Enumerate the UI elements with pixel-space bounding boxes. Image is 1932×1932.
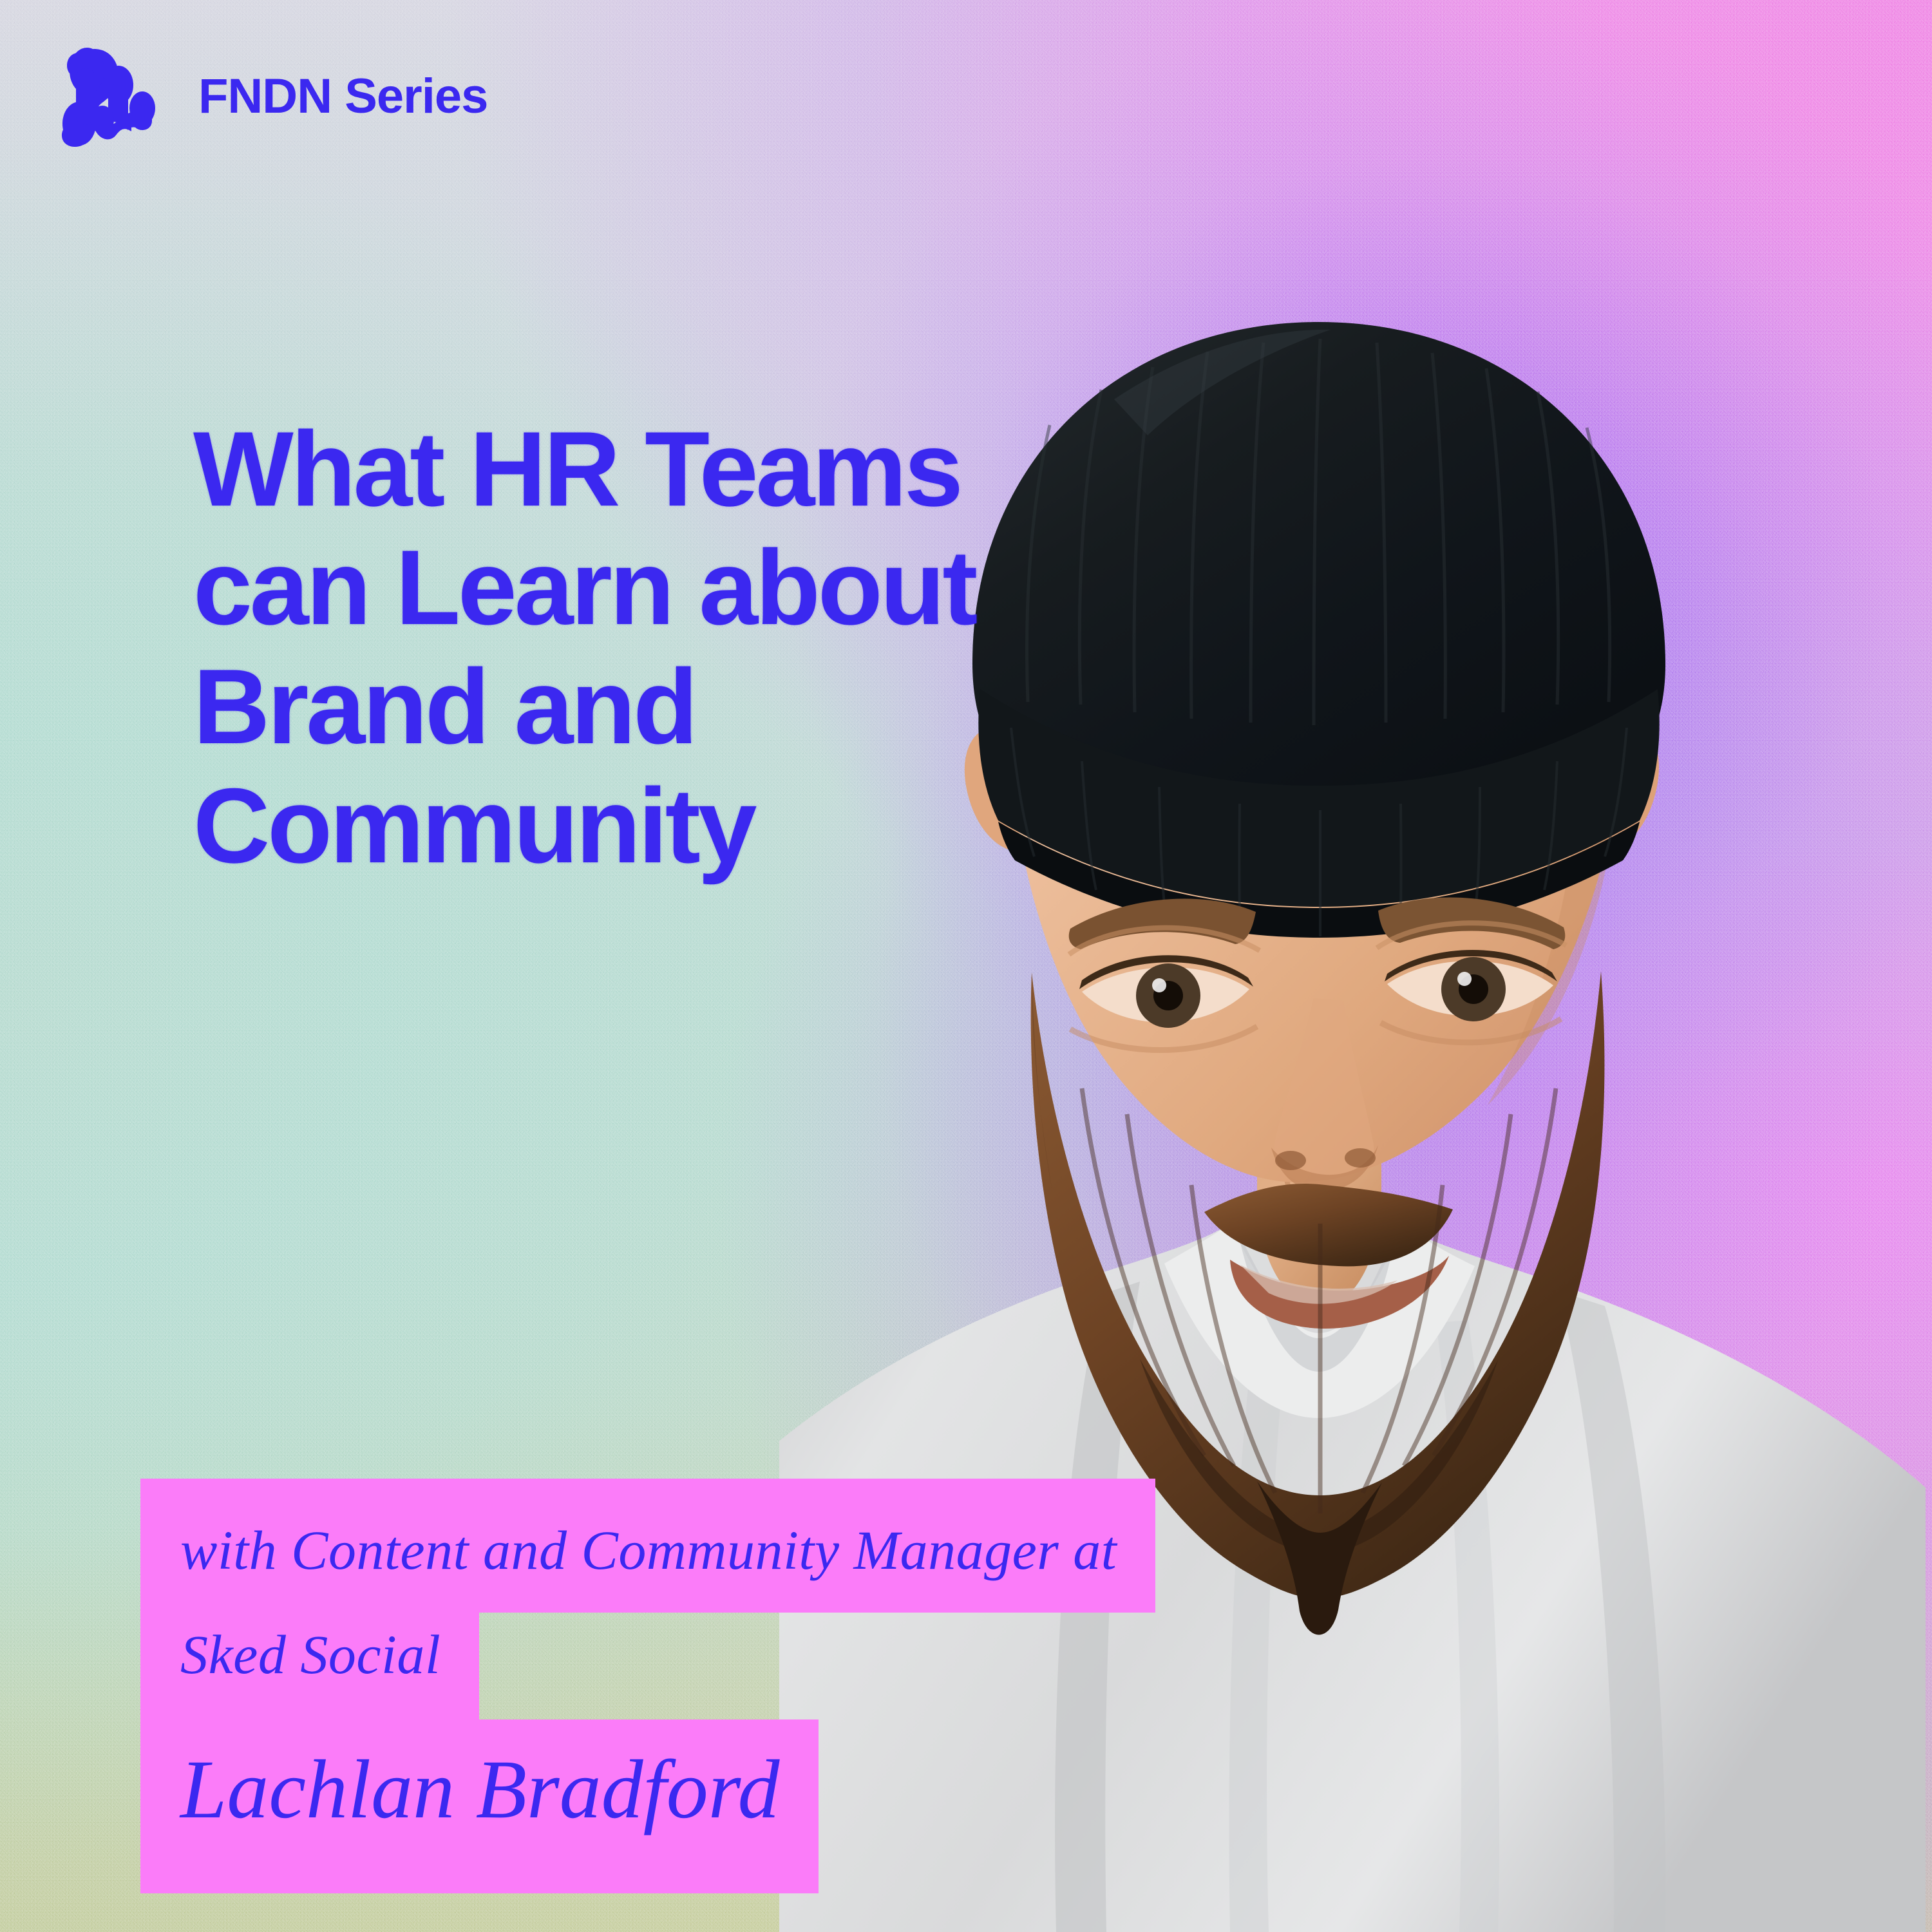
speaker-role-line: with Content and Community Manager at	[140, 1479, 1155, 1613]
headline-line-3: Brand and	[193, 647, 1301, 766]
headline-line-4: Community	[193, 766, 1301, 885]
brand-logo-label: FNDN Series	[198, 72, 488, 121]
speaker-company-line: Sked Social	[140, 1613, 479, 1719]
speaker-credits: with Content and Community Manager at Sk…	[140, 1479, 1155, 1893]
brand-logo[interactable]: FNDN Series	[57, 45, 488, 148]
headline-line-1: What HR Teams	[193, 410, 1301, 529]
page-title: What HR Teams can Learn about Brand and …	[193, 410, 1301, 885]
fndn-squiggle-logo-icon	[57, 45, 176, 148]
promo-poster: FNDN Series What HR Teams can Learn abou…	[0, 0, 1932, 1932]
speaker-name: Lachlan Bradford	[140, 1719, 819, 1893]
headline-line-2: can Learn about	[193, 528, 1301, 647]
